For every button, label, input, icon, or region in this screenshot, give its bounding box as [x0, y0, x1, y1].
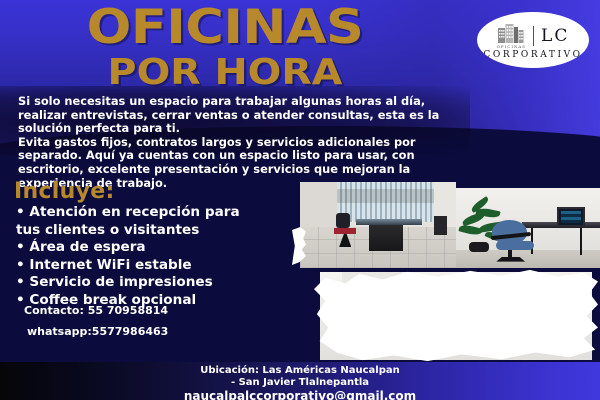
intro-p1-l1: Si solo necesitas un espacio para trabaj…: [18, 95, 478, 109]
headline-secondary: POR HORA: [0, 54, 473, 92]
intro-p1-l2: realizar entrevistas, cerrar ventas o at…: [18, 109, 478, 123]
logo-small-label: OFICINAS: [497, 44, 526, 49]
company-logo: OFICINAS LC CORPORATIVO: [477, 12, 589, 68]
building-icon: [498, 22, 524, 43]
intro-p1-l3: solución perfecta para ti.: [18, 122, 478, 136]
collage-brush-edge: [314, 268, 598, 364]
logo-divider: [533, 26, 534, 46]
office-photo-1: [300, 182, 456, 268]
headline-block: OFICINAS POR HORA: [0, 4, 450, 92]
logo-top-row: OFICINAS LC: [497, 22, 570, 49]
includes-heading: Incluye:: [14, 180, 115, 204]
includes-list: • Atención en recepción para tus cliente…: [16, 204, 294, 309]
intro-p2-l3: escritorio, excelente presentación y ser…: [18, 163, 478, 177]
intro-p2-l2: separado. Aquí ya cuentas con un espacio…: [18, 149, 478, 163]
logo-initials: LC: [541, 27, 569, 45]
footer-email[interactable]: naucalpalccorporativo@gmail.com: [0, 388, 600, 400]
intro-p2-l1: Evita gastos fijos, contratos largos y s…: [18, 136, 478, 150]
office-photo-2: [456, 188, 600, 268]
intro-copy: Si solo necesitas un espacio para trabaj…: [18, 95, 478, 190]
office-photo-2-scene: [456, 188, 600, 268]
footer-location-line1: Ubicación: Las Américas Naucalpan: [0, 362, 600, 377]
contact-block: Contacto: 55 70958814 whatsapp:557798646…: [24, 300, 168, 342]
logo-building-group: OFICINAS: [497, 22, 526, 49]
list-item: • Área de espera: [16, 239, 294, 257]
list-item: • Servicio de impresiones: [16, 274, 294, 292]
contact-phone[interactable]: Contacto: 55 70958814: [24, 300, 168, 321]
footer-bar: Ubicación: Las Américas Naucalpan - San …: [0, 362, 600, 400]
office-photo-1-scene: [300, 182, 456, 268]
footer-location-line2: - San Javier Tlalnepantla: [0, 377, 600, 388]
poster-canvas: OFICINAS POR HORA: [0, 0, 600, 400]
list-item: tus clientes o visitantes: [16, 222, 294, 240]
headline-primary: OFICINAS: [0, 4, 477, 52]
contact-whatsapp[interactable]: whatsapp:5577986463: [24, 321, 168, 342]
list-item: • Atención en recepción para: [16, 204, 294, 222]
logo-wordmark: CORPORATIVO: [483, 50, 582, 60]
list-item: • Internet WiFi estable: [16, 257, 294, 275]
photo-collage: [292, 182, 600, 362]
